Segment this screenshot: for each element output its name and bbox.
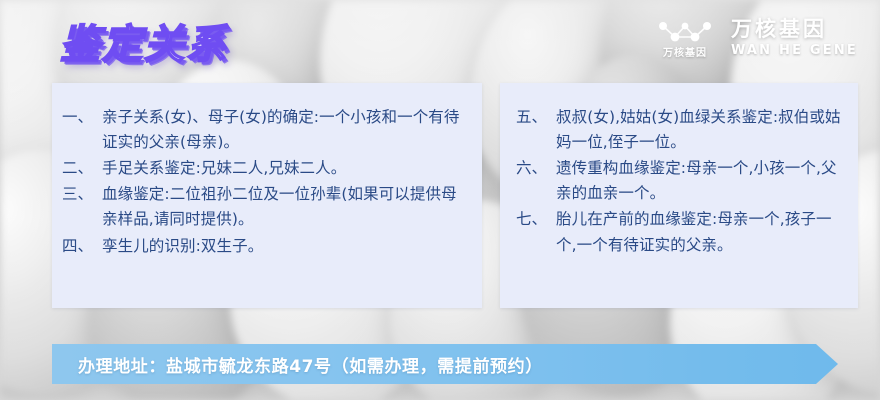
list-item-text: 血缘鉴定:二位祖孙二位及一位孙辈(如果可以提供母亲样品,请同时提供)。 (102, 182, 464, 232)
brand-wordmark: 万核基因 WAN HE GENE (731, 18, 858, 56)
list-item: 一、 亲子关系(女)、母子(女)的确定:一个小孩和一个有待证实的父亲(母亲)。 (62, 105, 464, 155)
list-item: 二、 手足关系鉴定:兄妹二人,兄妹二人。 (62, 156, 464, 181)
list-item: 七、 胎儿在产前的血缘鉴定:母亲一个,孩子一个,一个有待证实的父亲。 (516, 207, 848, 257)
address-banner-text: 办理地址：盐城市毓龙东路47号（如需办理，需提前预约） (78, 344, 543, 384)
list-item: 六、 遗传重构血缘鉴定:母亲一个,小孩一个,父亲的血亲一个。 (516, 156, 848, 206)
page-title: 鉴定关系 (60, 12, 228, 70)
content-panels: 一、 亲子关系(女)、母子(女)的确定:一个小孩和一个有待证实的父亲(母亲)。 … (52, 83, 858, 308)
list-item-marker: 四、 (62, 234, 102, 259)
list-item-marker: 二、 (62, 156, 102, 181)
list-item: 四、 孪生儿的识别:双生子。 (62, 234, 464, 259)
list-item-text: 叔叔(女),姑姑(女)血绿关系鉴定:叔伯或姑妈一位,侄子一位。 (556, 105, 848, 155)
brand-mark-label: 万核基因 (663, 49, 707, 59)
list-item-marker: 三、 (62, 182, 102, 207)
promo-banner-stage: 鉴定关系 (0, 0, 880, 400)
panel-right: 五、 叔叔(女),姑姑(女)血绿关系鉴定:叔伯或姑妈一位,侄子一位。 六、 遗传… (500, 83, 858, 308)
brand-name-en: WAN HE GENE (731, 44, 858, 57)
list-item-text: 遗传重构血缘鉴定:母亲一个,小孩一个,父亲的血亲一个。 (556, 156, 848, 206)
molecule-network-icon (655, 16, 715, 46)
address-banner: 办理地址：盐城市毓龙东路47号（如需办理，需提前预约） (52, 344, 838, 384)
list-item-text: 手足关系鉴定:兄妹二人,兄妹二人。 (102, 156, 464, 181)
list-item-text: 胎儿在产前的血缘鉴定:母亲一个,孩子一个,一个有待证实的父亲。 (556, 207, 848, 257)
list-item-text: 孪生儿的识别:双生子。 (102, 234, 464, 259)
list-item-marker: 五、 (516, 105, 556, 130)
list-item: 五、 叔叔(女),姑姑(女)血绿关系鉴定:叔伯或姑妈一位,侄子一位。 (516, 105, 848, 155)
brand-name-cn: 万核基因 (731, 18, 858, 40)
list-item-marker: 七、 (516, 207, 556, 232)
list-item-text: 亲子关系(女)、母子(女)的确定:一个小孩和一个有待证实的父亲(母亲)。 (102, 105, 464, 155)
list-item-marker: 六、 (516, 156, 556, 181)
brand-lockup: 万核基因 万核基因 WAN HE GENE (655, 16, 858, 59)
list-item-marker: 一、 (62, 105, 102, 130)
brand-mark: 万核基因 (655, 16, 715, 59)
list-item: 三、 血缘鉴定:二位祖孙二位及一位孙辈(如果可以提供母亲样品,请同时提供)。 (62, 182, 464, 232)
header: 鉴定关系 (0, 0, 880, 84)
panel-left: 一、 亲子关系(女)、母子(女)的确定:一个小孩和一个有待证实的父亲(母亲)。 … (52, 83, 482, 308)
